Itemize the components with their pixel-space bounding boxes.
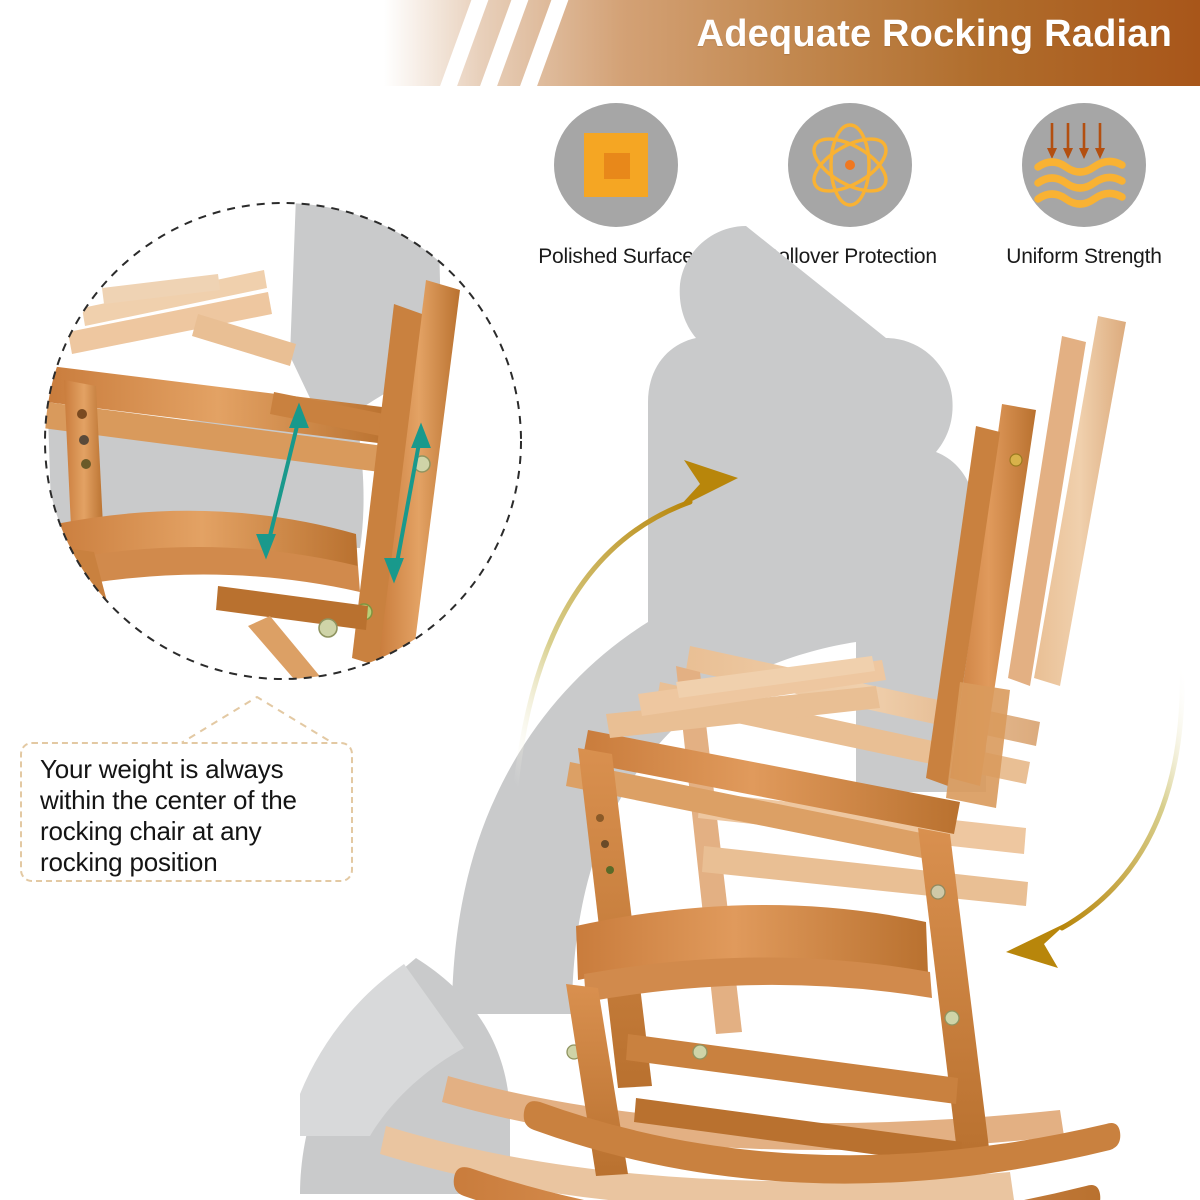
screw-icon bbox=[601, 840, 609, 848]
screw-icon bbox=[931, 885, 945, 899]
callout-pointer bbox=[176, 693, 338, 747]
screw-icon bbox=[596, 814, 604, 822]
page-title: Adequate Rocking Radian bbox=[697, 13, 1172, 56]
screw-icon bbox=[693, 1045, 707, 1059]
header-banner: Adequate Rocking Radian bbox=[0, 0, 1200, 86]
screw-icon bbox=[606, 866, 614, 874]
screw-icon bbox=[77, 409, 87, 419]
screw-icon bbox=[319, 619, 337, 637]
callout-box: Your weight is always within the center … bbox=[20, 742, 353, 882]
infographic-page: Adequate Rocking Radian Polished Surface bbox=[0, 0, 1200, 1200]
screw-icon bbox=[79, 435, 89, 445]
callout-text: Your weight is always within the center … bbox=[40, 754, 337, 878]
screw-icon bbox=[81, 459, 91, 469]
screw-icon bbox=[1010, 454, 1022, 466]
screw-icon bbox=[945, 1011, 959, 1025]
magnified-detail-circle bbox=[38, 196, 528, 686]
rock-backward-arrow bbox=[1006, 662, 1182, 968]
